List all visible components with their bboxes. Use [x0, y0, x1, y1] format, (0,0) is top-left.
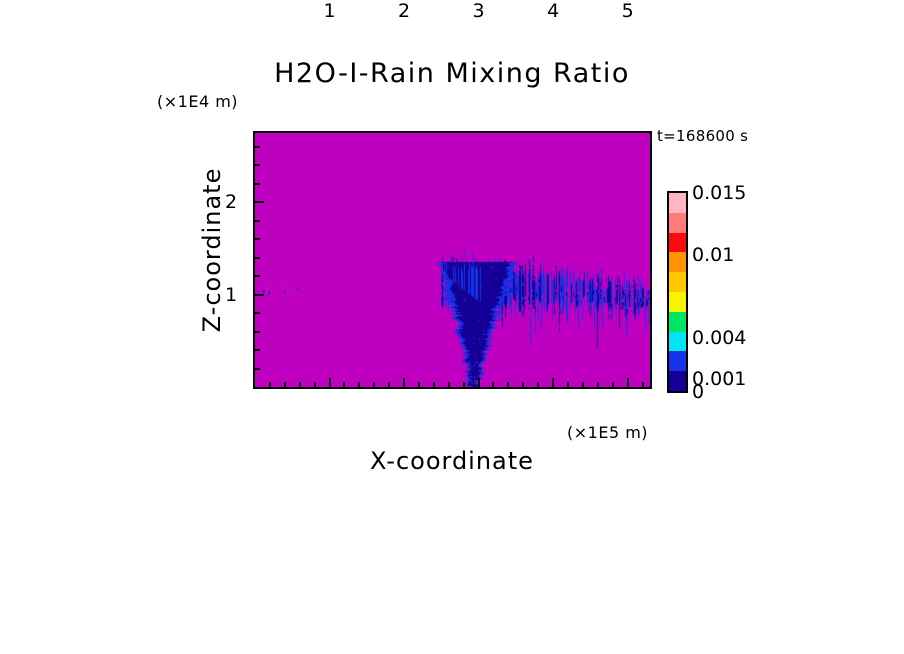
y-tick-minor	[255, 275, 260, 277]
x-tick-label: 4	[547, 0, 559, 22]
x-tick-minor	[612, 382, 614, 387]
x-tick-minor	[463, 382, 465, 387]
y-tick-minor	[255, 257, 260, 259]
plot-area	[253, 131, 652, 389]
x-tick-minor	[642, 382, 644, 387]
colorbar-band	[669, 371, 686, 391]
y-tick-minor	[255, 164, 260, 166]
x-tick-minor	[522, 382, 524, 387]
x-tick-minor	[597, 382, 599, 387]
x-tick-label: 5	[622, 0, 634, 22]
y-tick-major	[255, 294, 264, 296]
colorbar-band	[669, 233, 686, 253]
colorbar-band	[669, 272, 686, 292]
x-tick-minor	[373, 382, 375, 387]
z-axis-unit-label: (×1E4 m)	[157, 92, 238, 111]
y-tick-label: 2	[225, 191, 237, 213]
x-tick-minor	[284, 382, 286, 387]
x-tick-label: 1	[323, 0, 335, 22]
y-tick-minor	[255, 312, 260, 314]
x-tick-minor	[507, 382, 509, 387]
colorbar-band	[669, 312, 686, 332]
x-tick-minor	[448, 382, 450, 387]
x-tick-minor	[269, 382, 271, 387]
time-annotation: t=168600 s	[657, 127, 748, 145]
x-tick-major	[478, 378, 480, 387]
colorbar-band	[669, 351, 686, 371]
x-tick-minor	[358, 382, 360, 387]
y-tick-minor	[255, 183, 260, 185]
y-tick-minor	[255, 331, 260, 333]
x-axis-title: X-coordinate	[0, 447, 904, 475]
page-title: H2O-I-Rain Mixing Ratio	[0, 58, 904, 89]
y-tick-minor	[255, 146, 260, 148]
x-tick-minor	[314, 382, 316, 387]
colorbar-tick-label: 0.01	[692, 244, 734, 266]
x-tick-minor	[567, 382, 569, 387]
y-axis-title: Z-coordinate	[198, 120, 226, 380]
x-axis-unit-label: (×1E5 m)	[567, 423, 648, 442]
x-tick-major	[627, 378, 629, 387]
x-tick-minor	[418, 382, 420, 387]
y-tick-minor	[255, 368, 260, 370]
colorbar-tick-label: 0.015	[692, 182, 746, 204]
colorbar-tick-label: 0	[692, 381, 704, 403]
y-tick-major	[255, 201, 264, 203]
x-tick-minor	[582, 382, 584, 387]
colorbar-band	[669, 332, 686, 352]
y-tick-minor	[255, 220, 260, 222]
colorbar-band	[669, 252, 686, 272]
x-tick-minor	[388, 382, 390, 387]
x-tick-minor	[537, 382, 539, 387]
x-tick-minor	[433, 382, 435, 387]
x-tick-minor	[299, 382, 301, 387]
x-tick-minor	[492, 382, 494, 387]
y-tick-label: 1	[225, 284, 237, 306]
colorbar-tick-label: 0.004	[692, 327, 746, 349]
colorbar-band	[669, 193, 686, 213]
x-tick-label: 3	[473, 0, 485, 22]
y-tick-minor	[255, 238, 260, 240]
x-tick-minor	[343, 382, 345, 387]
x-tick-major	[403, 378, 405, 387]
colorbar-band	[669, 292, 686, 312]
x-tick-major	[552, 378, 554, 387]
colorbar-band	[669, 213, 686, 233]
x-tick-major	[329, 378, 331, 387]
rain-mixing-ratio-field	[255, 133, 650, 387]
colorbar	[667, 191, 688, 393]
y-tick-minor	[255, 349, 260, 351]
x-tick-label: 2	[398, 0, 410, 22]
